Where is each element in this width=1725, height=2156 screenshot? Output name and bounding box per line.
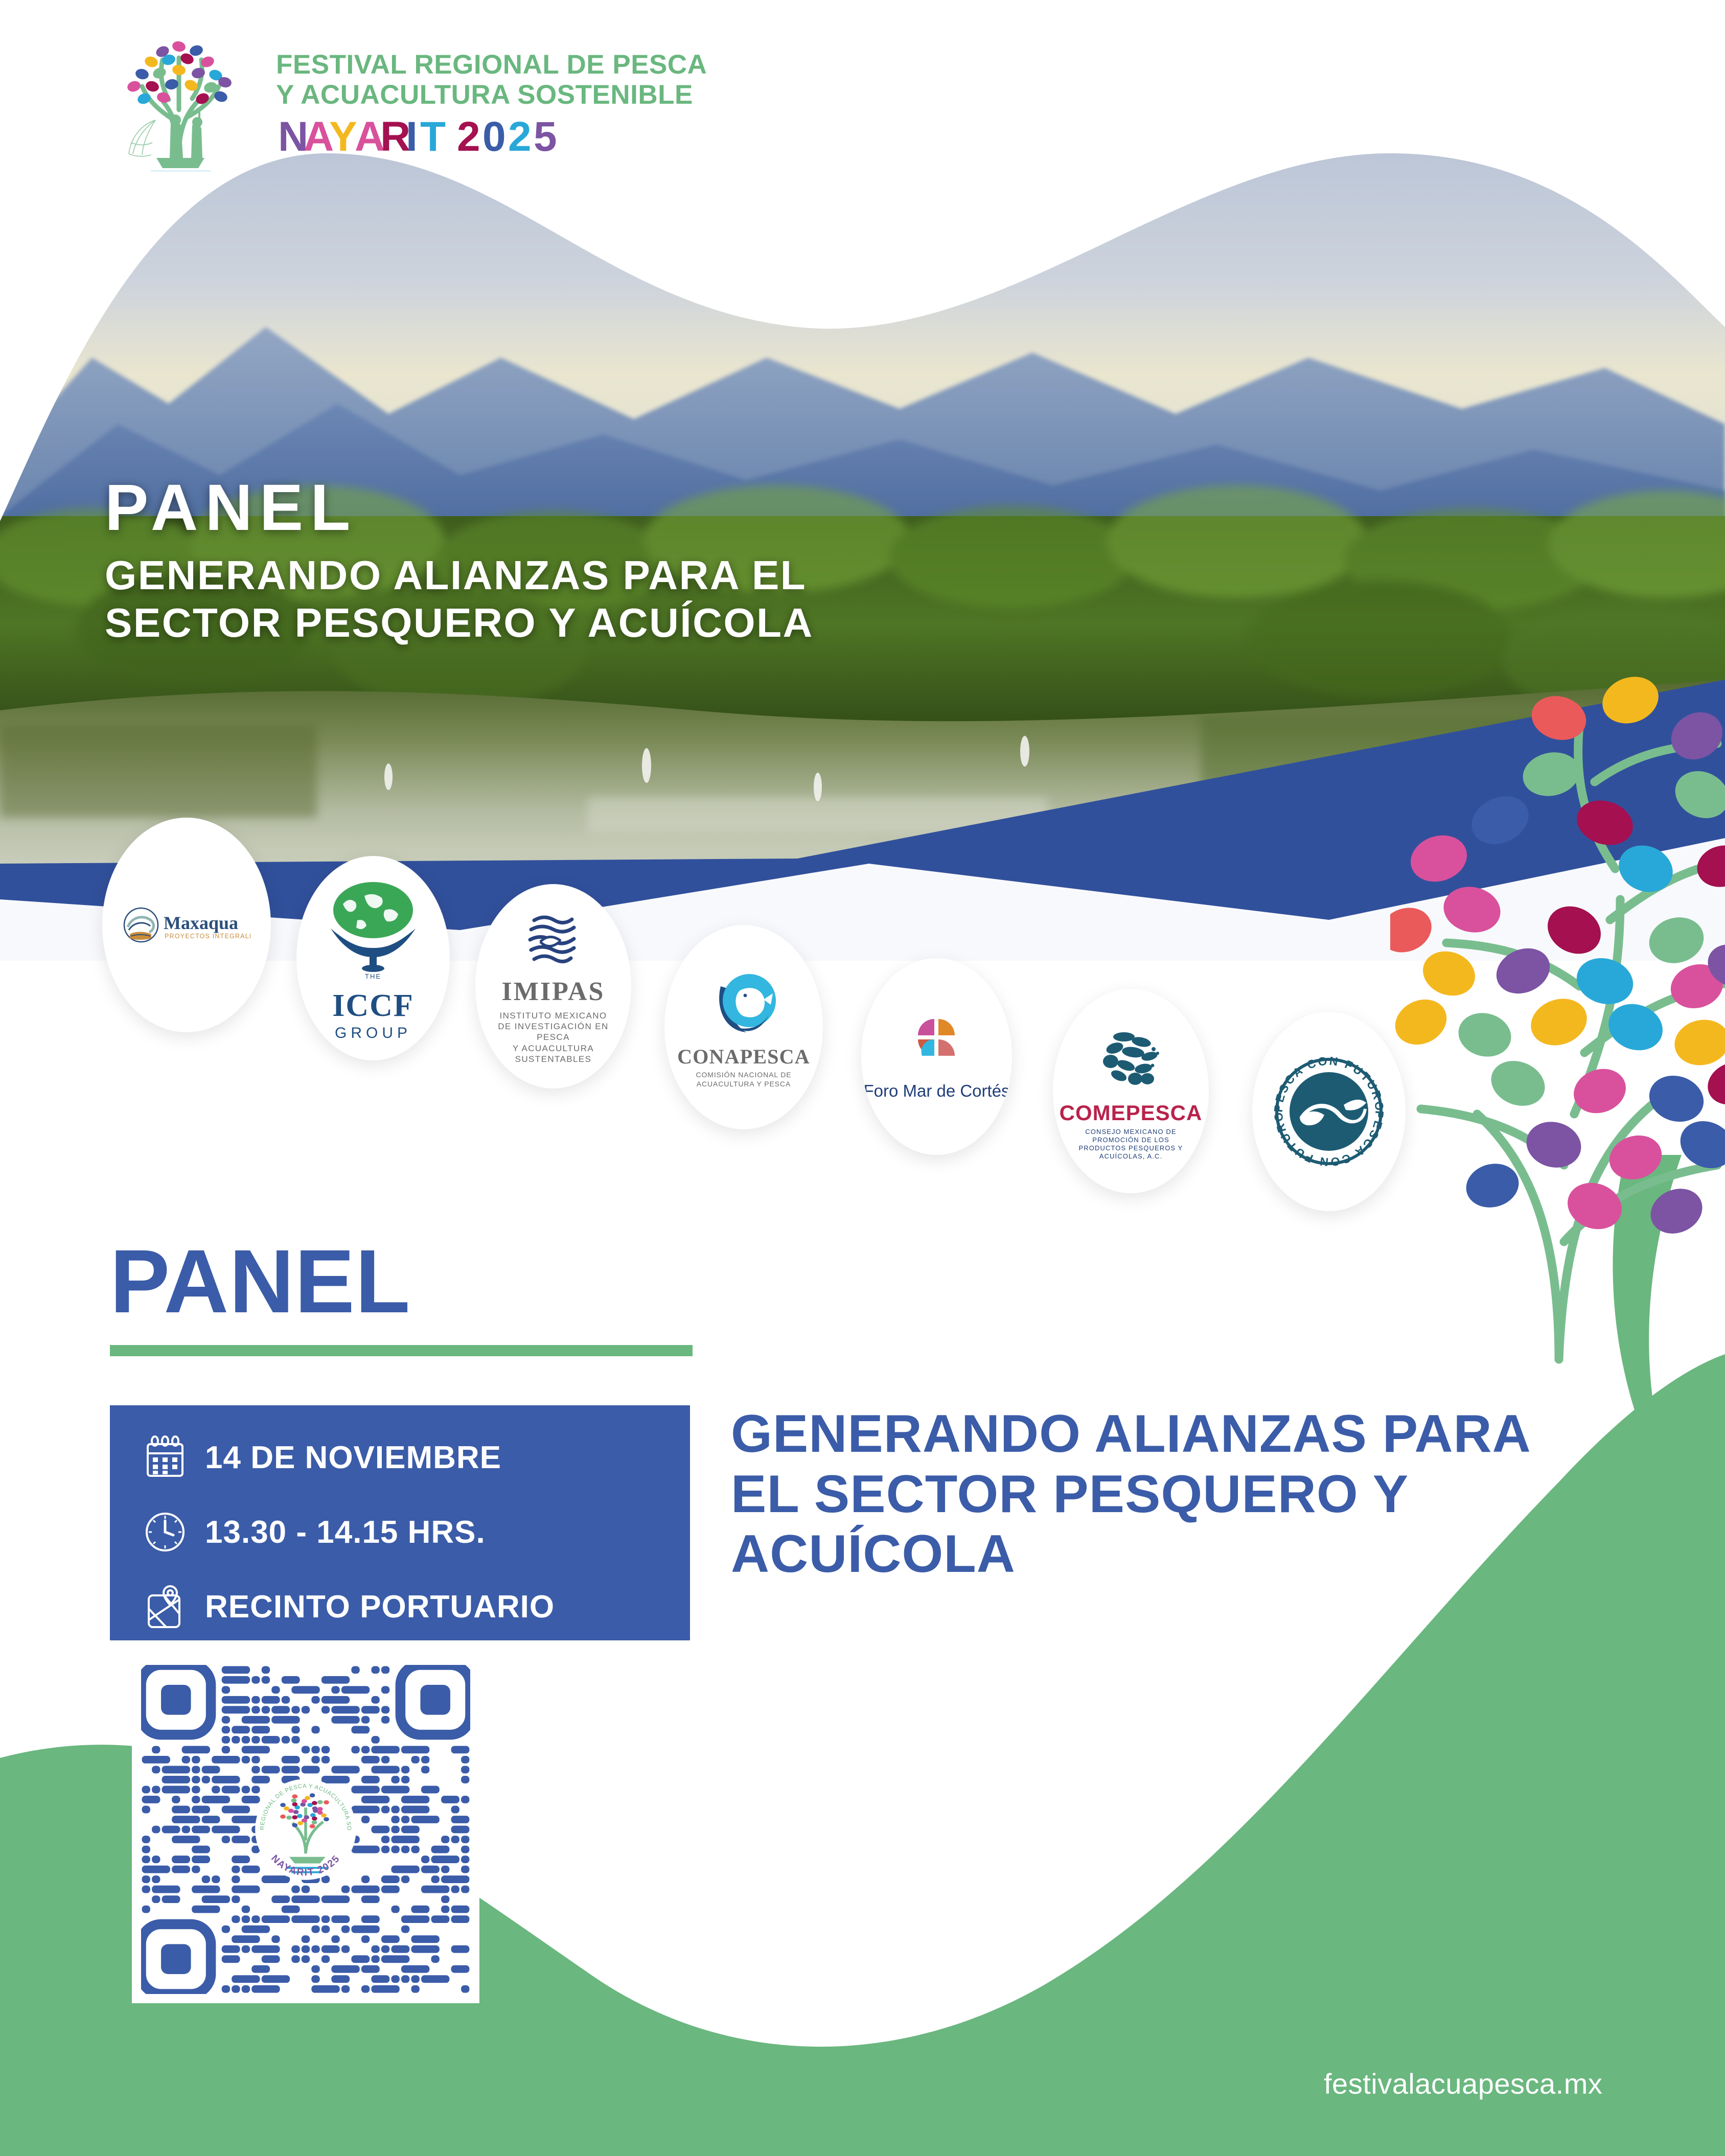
nayarit-letter-11: 5 (534, 113, 557, 159)
qr-code-graphic[interactable]: FESTIVAL REGIONAL DE PESCA Y ACUACULTURA… (141, 1665, 470, 1994)
nayarit-letter-2: Y (329, 113, 357, 159)
hero-panel-word: PANEL (105, 475, 814, 541)
conapesca-name: CONAPESCA (677, 1047, 810, 1067)
foro-mar-name: Foro Mar de Cortés (863, 1082, 1009, 1099)
maxaqua-wave-logo: Maxaqua PROYECTOS INTEGRALES (123, 905, 250, 945)
iccf-pre: THE (365, 972, 381, 980)
info-row-time: 13.30 - 14.15 HRS. (136, 1506, 690, 1558)
imipas-wave-fish-logo (520, 908, 586, 975)
iccf-sub: GROUP (335, 1024, 411, 1043)
pesca-con-futuro-seal-logo: PESCA CON FUTURO # PESCA CON FUTURO # (1269, 1052, 1389, 1172)
sponsor-logo-foro-mar-de-cortes: Foro Mar de Cortés (861, 958, 1012, 1155)
tree-with-fishermen-logo (102, 33, 256, 171)
panel-title-underline (110, 1345, 693, 1356)
panel-headline: GENERANDO ALIANZAS PARA EL SECTOR PESQUE… (731, 1404, 1600, 1585)
brand-wordmark: FESTIVAL REGIONAL DE PESCA Y ACUACULTURA… (276, 45, 707, 159)
hero-subtitle-line-1: GENERANDO ALIANZAS PARA EL (105, 552, 814, 599)
info-venue-text: RECINTO PORTUARIO (205, 1589, 555, 1625)
panel-title: PANEL (110, 1237, 410, 1327)
hero-subtitle-line-2: SECTOR PESQUERO Y ACUÍCOLA (105, 599, 814, 647)
qr-code[interactable]: FESTIVAL REGIONAL DE PESCA Y ACUACULTURA… (132, 1656, 479, 2003)
sponsor-logo-pesca-con-futuro: PESCA CON FUTURO # PESCA CON FUTURO # (1252, 1012, 1406, 1211)
nayarit-2025-wordmark: NAYARIT2025 (276, 113, 562, 159)
nayarit-letter-8: 2 (457, 113, 480, 159)
info-row-date: 14 DE NOVIEMBRE (136, 1432, 690, 1483)
nayarit-letter-9: 0 (482, 113, 506, 159)
info-date-text: 14 DE NOVIEMBRE (205, 1440, 501, 1476)
brand-line-1: FESTIVAL REGIONAL DE PESCA (276, 50, 707, 80)
nayarit-letter-10: 2 (508, 113, 532, 159)
sponsor-logo-iccf: THE ICCF GROUP (296, 856, 450, 1060)
hero-subtitle: GENERANDO ALIANZAS PARA EL SECTOR PESQUE… (105, 552, 814, 647)
iccf-globe-eagle-logo: THE (319, 873, 427, 991)
imipas-sub: INSTITUTO MEXICANO DE INVESTIGACIÓN EN P… (486, 1010, 620, 1064)
comepesca-sub: CONSEJO MEXICANO DE PROMOCIÓN DE LOS PRO… (1064, 1128, 1198, 1161)
info-row-venue: RECINTO PORTUARIO (136, 1581, 690, 1632)
footer-website-url[interactable]: festivalacuapesca.mx (1324, 2067, 1602, 2100)
sponsor-logo-imipas: IMIPAS INSTITUTO MEXICANO DE INVESTIGACI… (475, 884, 631, 1088)
maxaqua-name: Maxaqua (164, 913, 238, 933)
foro-mar-de-cortes-petals-logo (904, 1014, 970, 1075)
nayarit-letter-5: I (406, 113, 418, 159)
clock-icon (136, 1508, 194, 1557)
sponsor-logo-maxaqua: Maxaqua PROYECTOS INTEGRALES (102, 818, 271, 1032)
info-time-text: 13.30 - 14.15 HRS. (205, 1514, 486, 1550)
festival-brand-lockup: FESTIVAL REGIONAL DE PESCA Y ACUACULTURA… (102, 33, 705, 171)
event-info-box: 14 DE NOVIEMBRE 13.30 - 14.15 HRS. (110, 1405, 690, 1640)
comepesca-name: COMEPESCA (1060, 1102, 1203, 1124)
sponsor-logo-row: Maxaqua PROYECTOS INTEGRALES THE (0, 797, 1725, 1155)
imipas-name: IMIPAS (502, 979, 605, 1005)
map-pin-icon (136, 1582, 194, 1631)
brand-year-nayarit-2025: NAYARIT2025 (276, 113, 707, 159)
iccf-name: ICCF (332, 990, 414, 1022)
brand-line-2: Y ACUACULTURA SOSTENIBLE (276, 80, 707, 110)
conapesca-sub: COMISIÓN NACIONAL DE ACUACULTURA Y PESCA (676, 1071, 812, 1088)
sponsor-logo-comepesca: COMEPESCA CONSEJO MEXICANO DE PROMOCIÓN … (1053, 989, 1209, 1193)
nayarit-letter-6: T (420, 113, 446, 159)
calendar-icon (136, 1433, 194, 1482)
hero-text-block: PANEL GENERANDO ALIANZAS PARA EL SECTOR … (105, 475, 814, 647)
comepesca-sealife-circle-logo (1092, 1022, 1169, 1098)
conapesca-fish-logo (705, 966, 782, 1042)
maxaqua-sub: PROYECTOS INTEGRALES (165, 933, 250, 940)
sponsor-logo-conapesca: CONAPESCA COMISIÓN NACIONAL DE ACUACULTU… (664, 925, 823, 1129)
